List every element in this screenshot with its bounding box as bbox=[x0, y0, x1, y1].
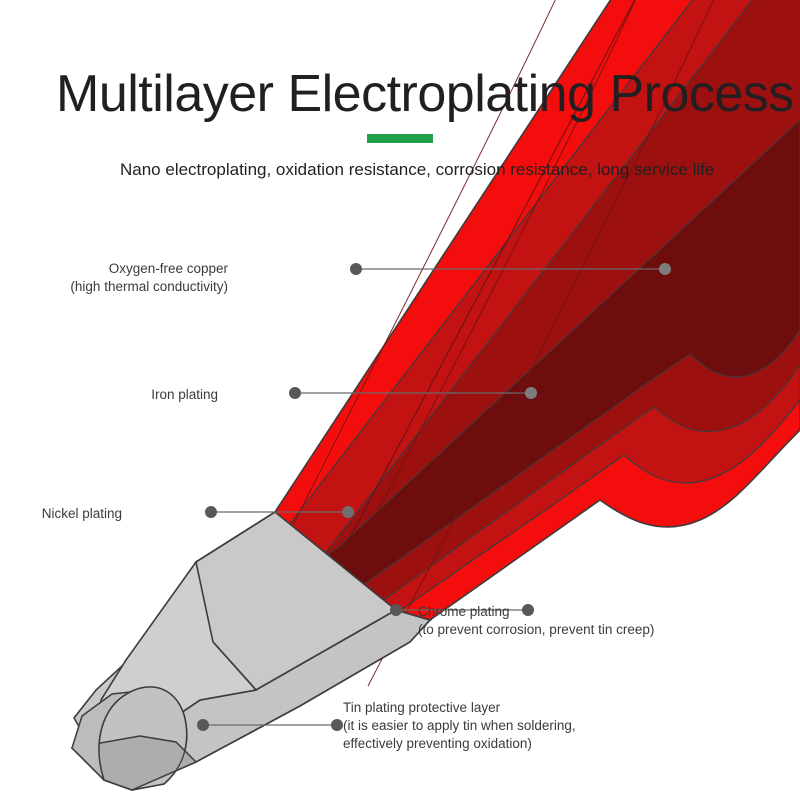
infographic-canvas: Multilayer Electroplating Process Nano e… bbox=[0, 0, 800, 800]
callout-label-line1: Oxygen-free copper bbox=[109, 261, 228, 276]
callout-label-line2: (it is easier to apply tin when solderin… bbox=[343, 717, 576, 735]
title-accent-rule bbox=[367, 134, 433, 143]
callout-iron-plating: Iron plating bbox=[151, 386, 218, 404]
callout-label-line1: Iron plating bbox=[151, 387, 218, 402]
page-subtitle: Nano electroplating, oxidation resistanc… bbox=[120, 160, 714, 180]
page-title: Multilayer Electroplating Process bbox=[56, 64, 794, 124]
callout-label-line2: (to prevent corrosion, prevent tin creep… bbox=[418, 621, 654, 639]
callout-chrome-plating: Chrome plating (to prevent corrosion, pr… bbox=[418, 603, 654, 639]
callout-label-line1: Chrome plating bbox=[418, 604, 510, 619]
callout-label-line3: effectively preventing oxidation) bbox=[343, 735, 576, 753]
callout-label-line2: (high thermal conductivity) bbox=[70, 278, 228, 296]
callout-oxygen-free-copper: Oxygen-free copper (high thermal conduct… bbox=[70, 260, 228, 296]
callout-label-line1: Tin plating protective layer bbox=[343, 700, 500, 715]
callout-tin-plating: Tin plating protective layer (it is easi… bbox=[343, 699, 576, 753]
callout-label-line1: Nickel plating bbox=[42, 506, 122, 521]
callout-nickel-plating: Nickel plating bbox=[42, 505, 122, 523]
